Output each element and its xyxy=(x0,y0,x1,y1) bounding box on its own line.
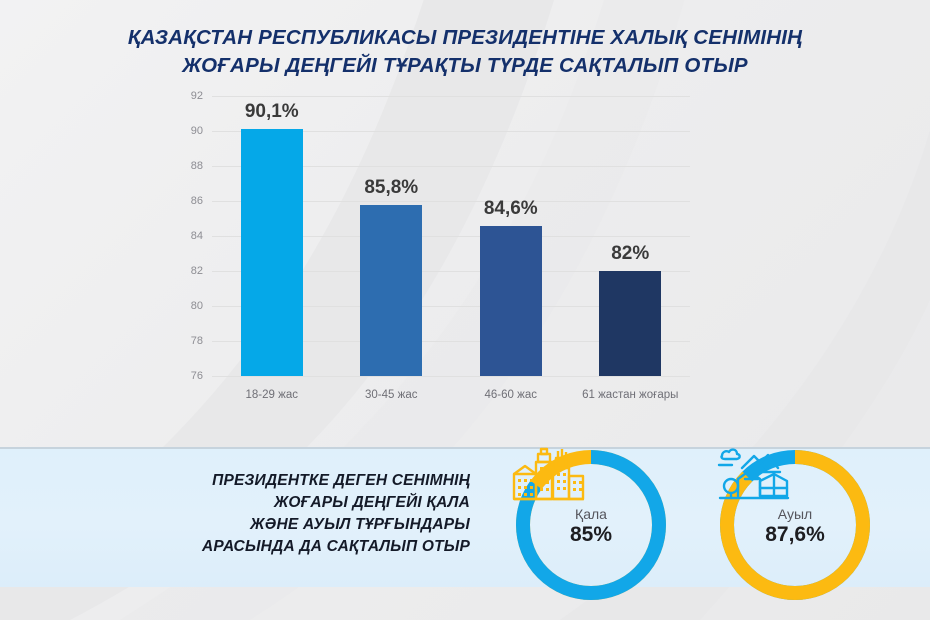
donut-city-value: 85% xyxy=(570,522,612,548)
donut-city-label: Қала xyxy=(575,506,607,522)
y-axis-tick-label: 80 xyxy=(191,300,203,312)
y-axis-tick-label: 92 xyxy=(191,90,203,102)
donut-village-content: Ауыл 87,6% xyxy=(716,446,874,604)
page-title: ҚАЗАҚСТАН РЕСПУБЛИКАСЫ ПРЕЗИДЕНТІНЕ ХАЛЫ… xyxy=(0,24,930,80)
chart-plot-area: 76788082848688909290,1%18-29 жас85,8%30-… xyxy=(212,96,690,376)
page-title-line-2: ЖОҒАРЫ ДЕҢГЕЙІ ТҰРАҚТЫ ТҮРДЕ САҚТАЛЫП ОТ… xyxy=(40,52,890,80)
chart-bar: 90,1% xyxy=(241,129,303,376)
donut-chart-city: Қала 85% xyxy=(512,446,670,604)
chart-gridline: 76 xyxy=(212,376,690,377)
bar-value-label: 85,8% xyxy=(364,177,418,199)
chart-bar: 84,6% xyxy=(480,226,542,377)
donut-village-label: Ауыл xyxy=(778,506,812,522)
chart-gridline: 92 xyxy=(212,96,690,97)
bottom-caption: ПРЕЗИДЕНТКЕ ДЕГЕН СЕНІМНІҢ ЖОҒАРЫ ДЕҢГЕЙ… xyxy=(40,470,470,558)
y-axis-tick-label: 88 xyxy=(191,160,203,172)
y-axis-tick-label: 76 xyxy=(191,370,203,382)
village-landscape-icon xyxy=(716,446,790,504)
chart-bar: 82% xyxy=(599,271,661,376)
donut-village-value: 87,6% xyxy=(765,522,825,548)
y-axis-tick-label: 86 xyxy=(191,195,203,207)
bar-value-label: 90,1% xyxy=(245,101,299,123)
bottom-caption-line-4: АРАСЫНДА ДА САҚТАЛЫП ОТЫР xyxy=(40,536,470,558)
x-axis-category-label: 61 жастан жоғары xyxy=(570,388,690,403)
chart-bar: 85,8% xyxy=(360,205,422,377)
page-title-line-1: ҚАЗАҚСТАН РЕСПУБЛИКАСЫ ПРЕЗИДЕНТІНЕ ХАЛЫ… xyxy=(40,24,890,52)
city-buildings-icon xyxy=(512,446,586,502)
y-axis-tick-label: 82 xyxy=(191,265,203,277)
donut-chart-village: Ауыл 87,6% xyxy=(716,446,874,604)
y-axis-tick-label: 78 xyxy=(191,335,203,347)
donut-city-content: Қала 85% xyxy=(512,446,670,604)
x-axis-category-label: 46-60 жас xyxy=(451,388,571,403)
bottom-caption-line-2: ЖОҒАРЫ ДЕҢГЕЙІ ҚАЛА xyxy=(40,492,470,514)
bottom-caption-line-1: ПРЕЗИДЕНТКЕ ДЕГЕН СЕНІМНІҢ xyxy=(40,470,470,492)
x-axis-category-label: 30-45 жас xyxy=(331,388,451,403)
infographic-root: ҚАЗАҚСТАН РЕСПУБЛИКАСЫ ПРЕЗИДЕНТІНЕ ХАЛЫ… xyxy=(0,0,930,620)
x-axis-category-label: 18-29 жас xyxy=(212,388,332,403)
bar-chart: 76788082848688909290,1%18-29 жас85,8%30-… xyxy=(0,88,930,418)
bottom-caption-line-3: ЖӘНЕ АУЫЛ ТҰРҒЫНДАРЫ xyxy=(40,514,470,536)
bar-value-label: 84,6% xyxy=(484,198,538,220)
y-axis-tick-label: 90 xyxy=(191,125,203,137)
bar-value-label: 82% xyxy=(611,243,649,265)
y-axis-tick-label: 84 xyxy=(191,230,203,242)
